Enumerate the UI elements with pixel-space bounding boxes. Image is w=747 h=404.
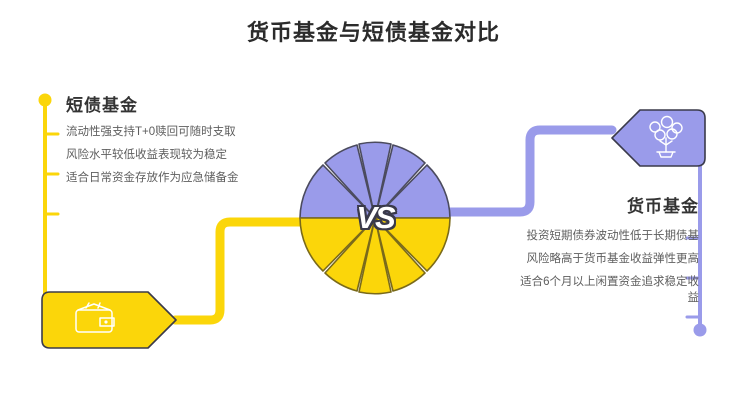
list-item: 风险略高于货币基金收益弹性更高 bbox=[519, 251, 699, 267]
right-panel-heading: 货币基金 bbox=[627, 192, 699, 217]
infographic-canvas: 货币基金与短债基金对比 bbox=[0, 0, 747, 404]
vs-label: VS bbox=[349, 196, 401, 240]
right-timeline-dot bbox=[694, 324, 707, 337]
left-badge[interactable] bbox=[42, 292, 176, 348]
right-badge-shape bbox=[612, 110, 705, 166]
list-item: 流动性强支持T+0赎回可随时支取 bbox=[66, 124, 246, 140]
left-panel-heading: 短债基金 bbox=[66, 91, 138, 116]
list-item: 投资短期债券波动性低于长期债基 bbox=[519, 228, 699, 244]
list-item: 适合6个月以上闲置资金追求稳定收益 bbox=[519, 274, 699, 306]
purple-connector-line bbox=[420, 130, 612, 212]
left-panel-bullets: 流动性强支持T+0赎回可随时支取 风险水平较低收益表现较为稳定 适合日常资金存放… bbox=[66, 124, 246, 193]
left-timeline-dot bbox=[39, 94, 52, 107]
right-badge[interactable] bbox=[612, 110, 705, 166]
left-badge-shape bbox=[42, 292, 176, 348]
list-item: 风险水平较低收益表现较为稳定 bbox=[66, 147, 246, 163]
list-item: 适合日常资金存放作为应急储备金 bbox=[66, 170, 246, 186]
right-panel-bullets: 投资短期债券波动性低于长期债基 风险略高于货币基金收益弹性更高 适合6个月以上闲… bbox=[519, 228, 699, 313]
